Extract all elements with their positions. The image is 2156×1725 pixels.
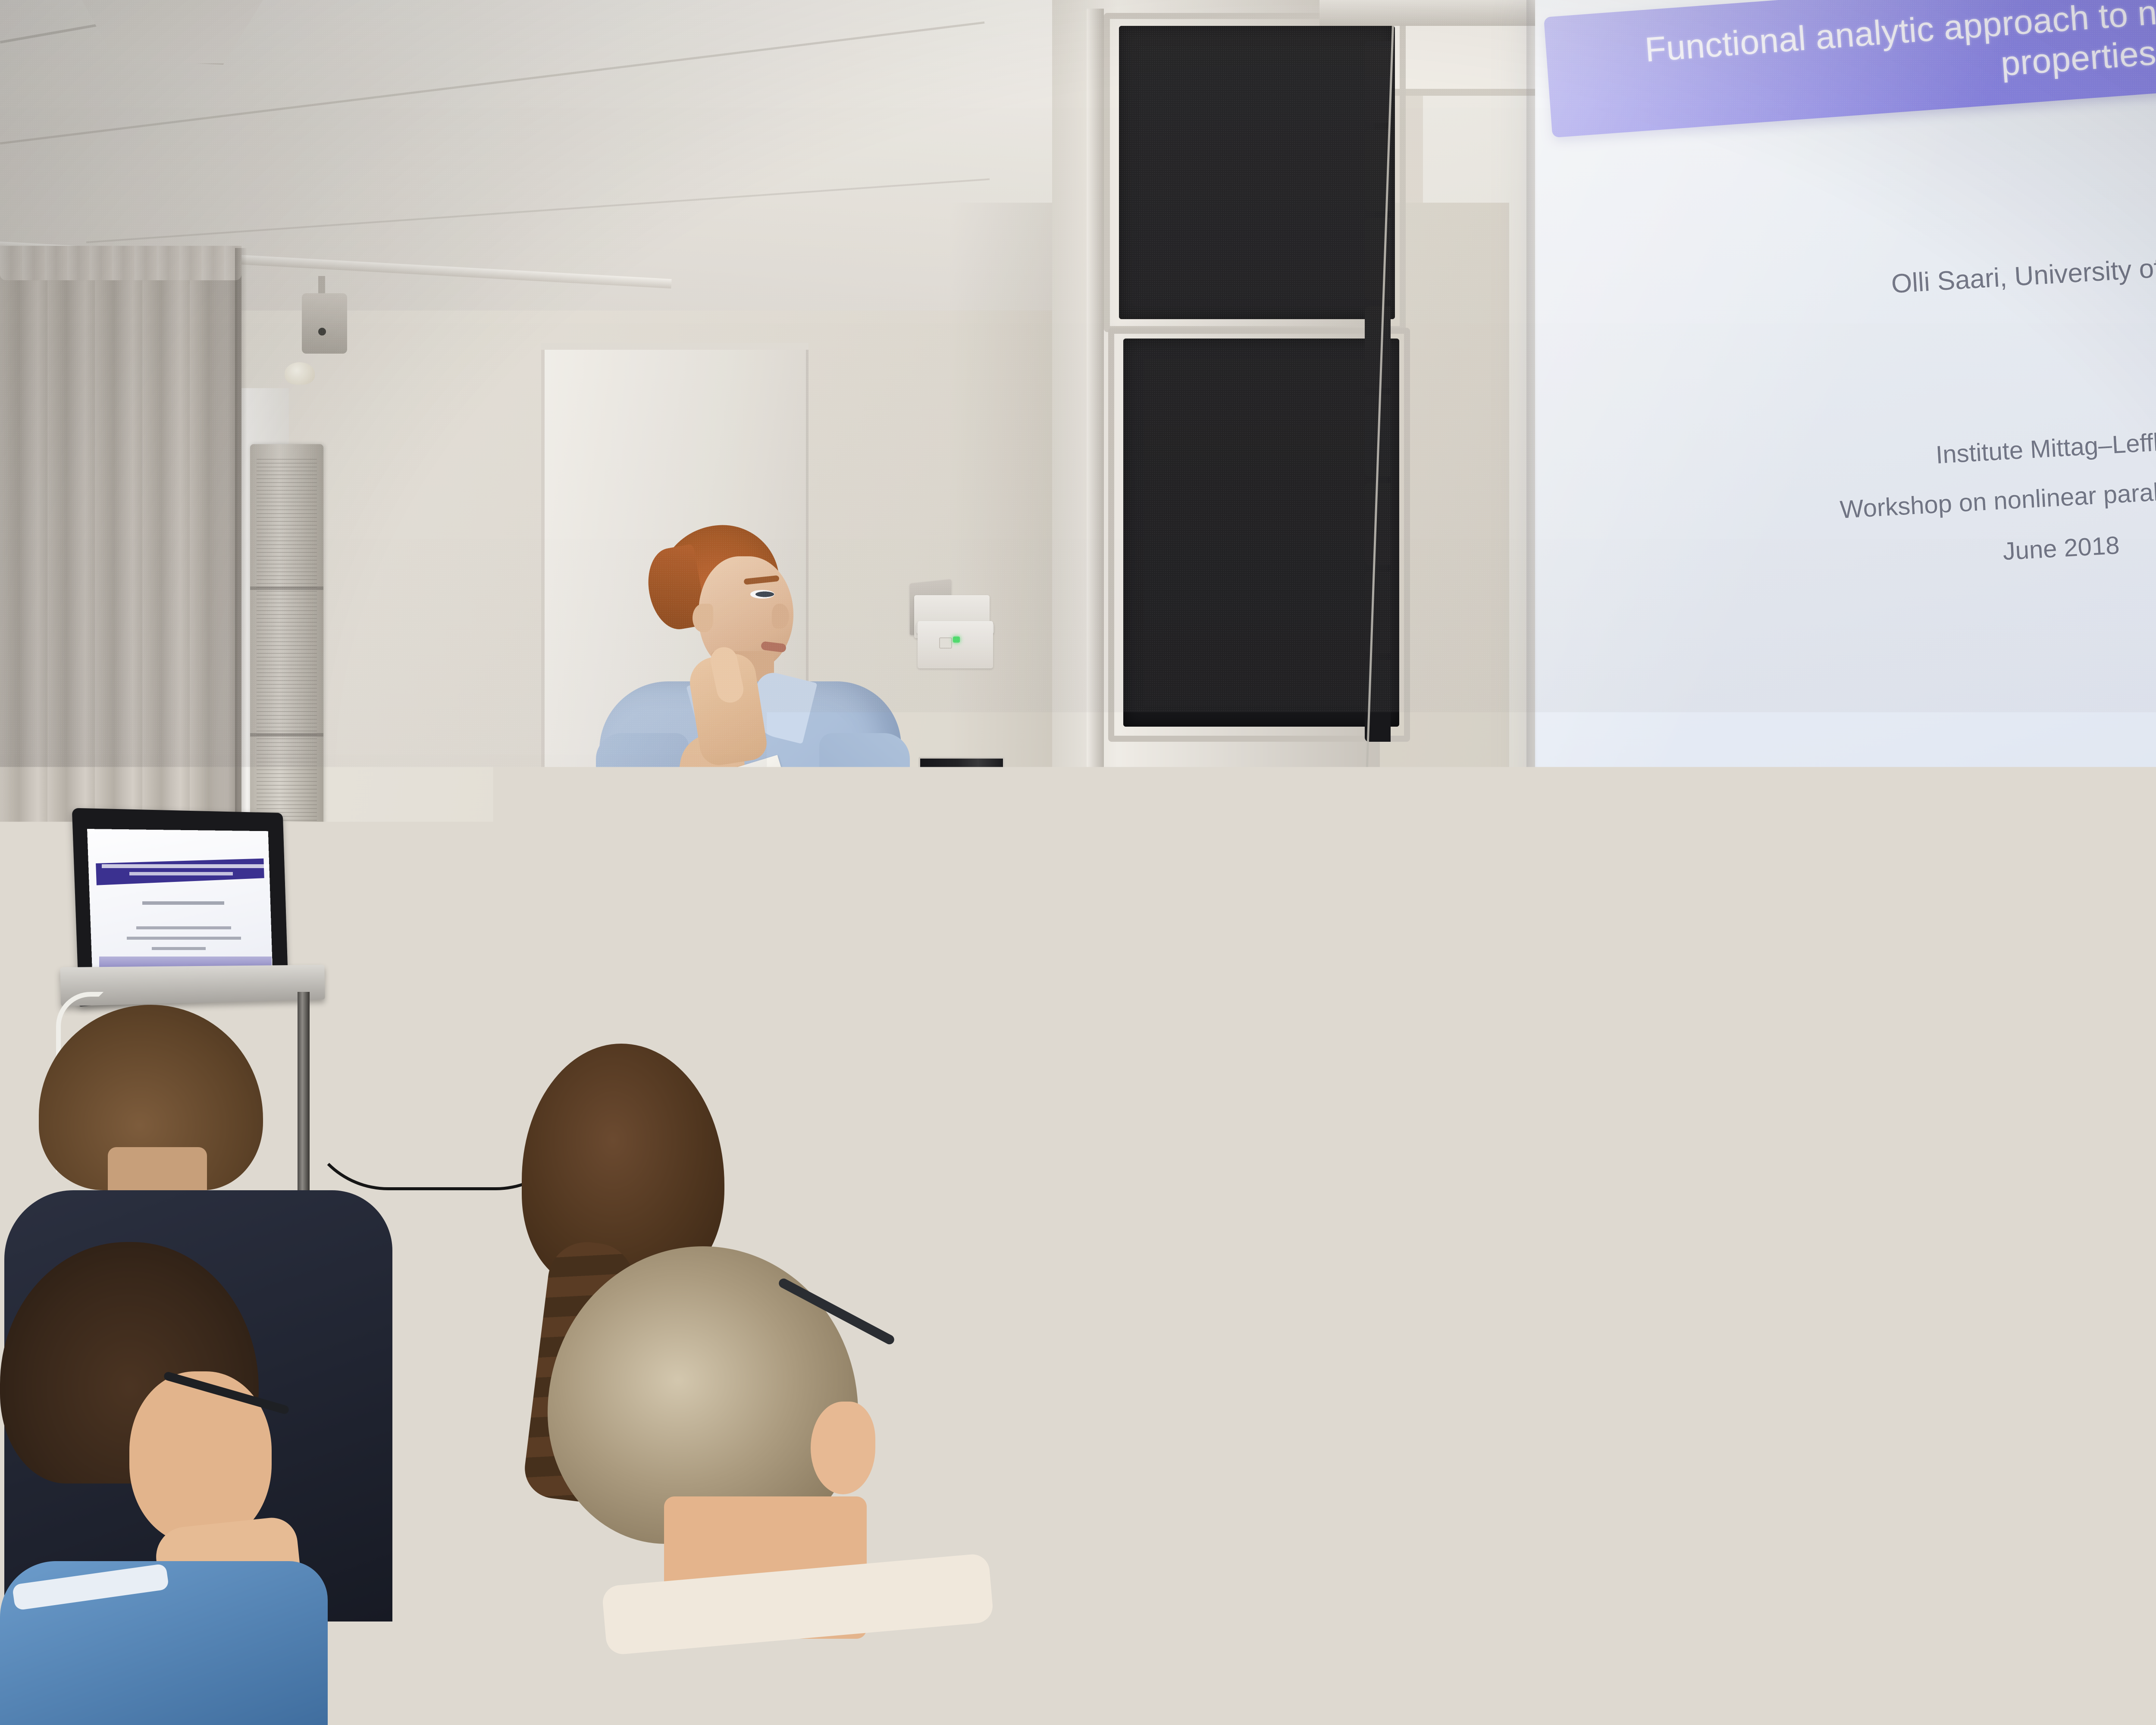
laptop-slide-title-line bbox=[102, 864, 268, 868]
blackboard-frame bbox=[1104, 13, 1406, 332]
blackboard-tab[interactable] bbox=[1365, 306, 1391, 388]
chair bbox=[1414, 1617, 1820, 1725]
data-socket-plate[interactable] bbox=[974, 822, 1007, 867]
blackboard-tab[interactable] bbox=[1365, 483, 1391, 565]
presenter-ear bbox=[693, 604, 713, 632]
laptop-slide-body-line bbox=[127, 937, 241, 940]
status-led-icon bbox=[953, 637, 960, 643]
projector-screen-bottom-bar bbox=[1328, 837, 2156, 868]
presenter-nose bbox=[772, 604, 789, 629]
status-box-button[interactable] bbox=[939, 637, 952, 649]
wall-lamp-icon bbox=[285, 362, 315, 385]
chalk-ledge bbox=[2130, 1207, 2156, 1226]
column-seam bbox=[250, 733, 323, 737]
audience-member-a4-ear bbox=[811, 1402, 875, 1494]
projector-screen-weight-bar bbox=[1328, 866, 2156, 875]
blackboard-tab[interactable] bbox=[1365, 571, 1391, 653]
laptop-slide-body-line bbox=[152, 947, 206, 950]
wall-speaker-icon bbox=[302, 293, 347, 354]
audience-member-a5-hood bbox=[947, 1342, 1295, 1546]
chair bbox=[1910, 1621, 2156, 1725]
microphone-cable bbox=[854, 935, 1022, 1247]
laptop-slide-body-line bbox=[142, 901, 224, 905]
lecture-hall-photo: Functional analytic approach to non-loca… bbox=[0, 0, 2156, 1725]
wall-status-box[interactable] bbox=[918, 621, 993, 668]
blackboard-right[interactable] bbox=[2134, 931, 2156, 1216]
screen-sheen bbox=[1535, 0, 2156, 811]
speaker-driver-icon bbox=[318, 328, 326, 336]
presenter-eye bbox=[750, 590, 774, 599]
laptop-slide-title-line bbox=[129, 872, 233, 875]
blackboard-tab[interactable] bbox=[1365, 41, 1391, 123]
curtain-header bbox=[0, 246, 241, 280]
laptop-slide-body-line bbox=[136, 926, 231, 929]
column-seam bbox=[250, 586, 323, 590]
wall-panel-top bbox=[541, 343, 808, 350]
blackboard-rail[interactable] bbox=[1087, 9, 1104, 897]
wall-black-panel bbox=[918, 757, 1005, 796]
watch-face-icon bbox=[724, 947, 763, 980]
